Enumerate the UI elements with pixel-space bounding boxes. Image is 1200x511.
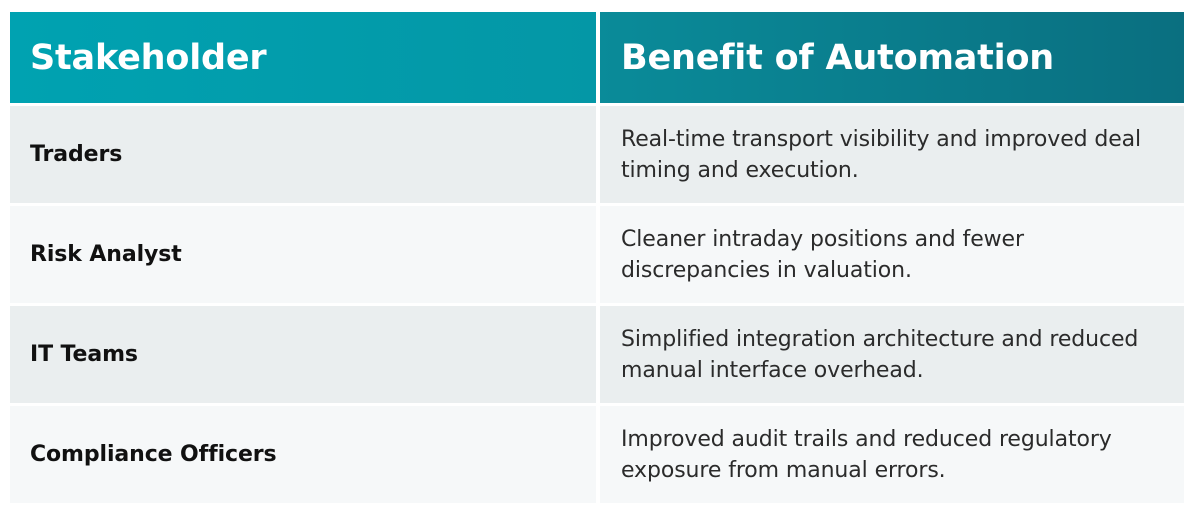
benefit-text: Simplified integration architecture and … bbox=[621, 324, 1166, 386]
table-row: Compliance Officers Improved audit trail… bbox=[10, 406, 1184, 503]
stakeholder-label: IT Teams bbox=[30, 340, 596, 370]
cell-benefit: Real-time transport visibility and impro… bbox=[600, 106, 1184, 203]
stakeholder-label: Risk Analyst bbox=[30, 240, 596, 270]
cell-benefit: Cleaner intraday positions and fewer dis… bbox=[600, 206, 1184, 303]
cell-benefit: Simplified integration architecture and … bbox=[600, 306, 1184, 403]
cell-stakeholder: Compliance Officers bbox=[10, 406, 596, 503]
cell-stakeholder: Risk Analyst bbox=[10, 206, 596, 303]
stakeholder-benefit-table-container: Stakeholder Benefit of Automation Trader… bbox=[0, 0, 1200, 511]
table-body: Traders Real-time transport visibility a… bbox=[10, 103, 1184, 503]
column-header-stakeholder: Stakeholder bbox=[10, 12, 596, 103]
column-header-benefit: Benefit of Automation bbox=[600, 12, 1184, 103]
table-row: Traders Real-time transport visibility a… bbox=[10, 106, 1184, 203]
table-header-row: Stakeholder Benefit of Automation bbox=[10, 12, 1184, 103]
benefit-text: Cleaner intraday positions and fewer dis… bbox=[621, 224, 1166, 286]
table-row: IT Teams Simplified integration architec… bbox=[10, 306, 1184, 403]
table-header: Stakeholder Benefit of Automation bbox=[10, 12, 1184, 103]
table-row: Risk Analyst Cleaner intraday positions … bbox=[10, 206, 1184, 303]
cell-benefit: Improved audit trails and reduced regula… bbox=[600, 406, 1184, 503]
stakeholder-benefit-table: Stakeholder Benefit of Automation Trader… bbox=[10, 12, 1184, 503]
benefit-text: Improved audit trails and reduced regula… bbox=[621, 424, 1166, 486]
cell-stakeholder: IT Teams bbox=[10, 306, 596, 403]
cell-stakeholder: Traders bbox=[10, 106, 596, 203]
stakeholder-label: Traders bbox=[30, 140, 596, 170]
stakeholder-label: Compliance Officers bbox=[30, 440, 596, 470]
benefit-text: Real-time transport visibility and impro… bbox=[621, 124, 1166, 186]
